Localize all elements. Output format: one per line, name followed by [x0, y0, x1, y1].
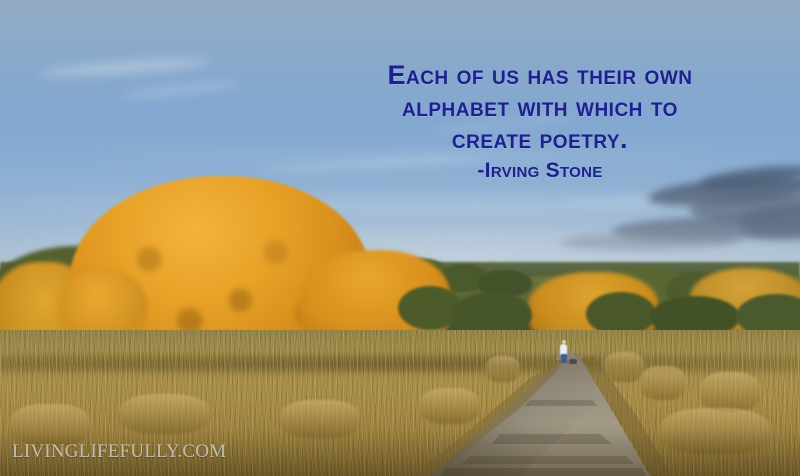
quote-image: Each of us has their own alphabet with w… [0, 0, 800, 476]
person-legs [561, 354, 567, 363]
grass-tuft [640, 366, 686, 400]
quote-line-1: Each of us has their own [300, 60, 780, 92]
site-watermark: LIVINGLIFEFULLY.COM [12, 441, 226, 463]
grass-tuft [700, 372, 760, 412]
quote-line-2: alphabet with which to [300, 92, 780, 124]
grass-tuft [486, 356, 520, 382]
grass-tuft [420, 388, 480, 424]
quote-line-3: create poetry. [300, 124, 780, 156]
companion-shape [569, 359, 577, 364]
quote-attribution: -Irving Stone [300, 159, 780, 184]
grass-tuft [120, 394, 210, 434]
quote-overlay: Each of us has their own alphabet with w… [300, 60, 780, 183]
grass-tuft [604, 352, 644, 382]
